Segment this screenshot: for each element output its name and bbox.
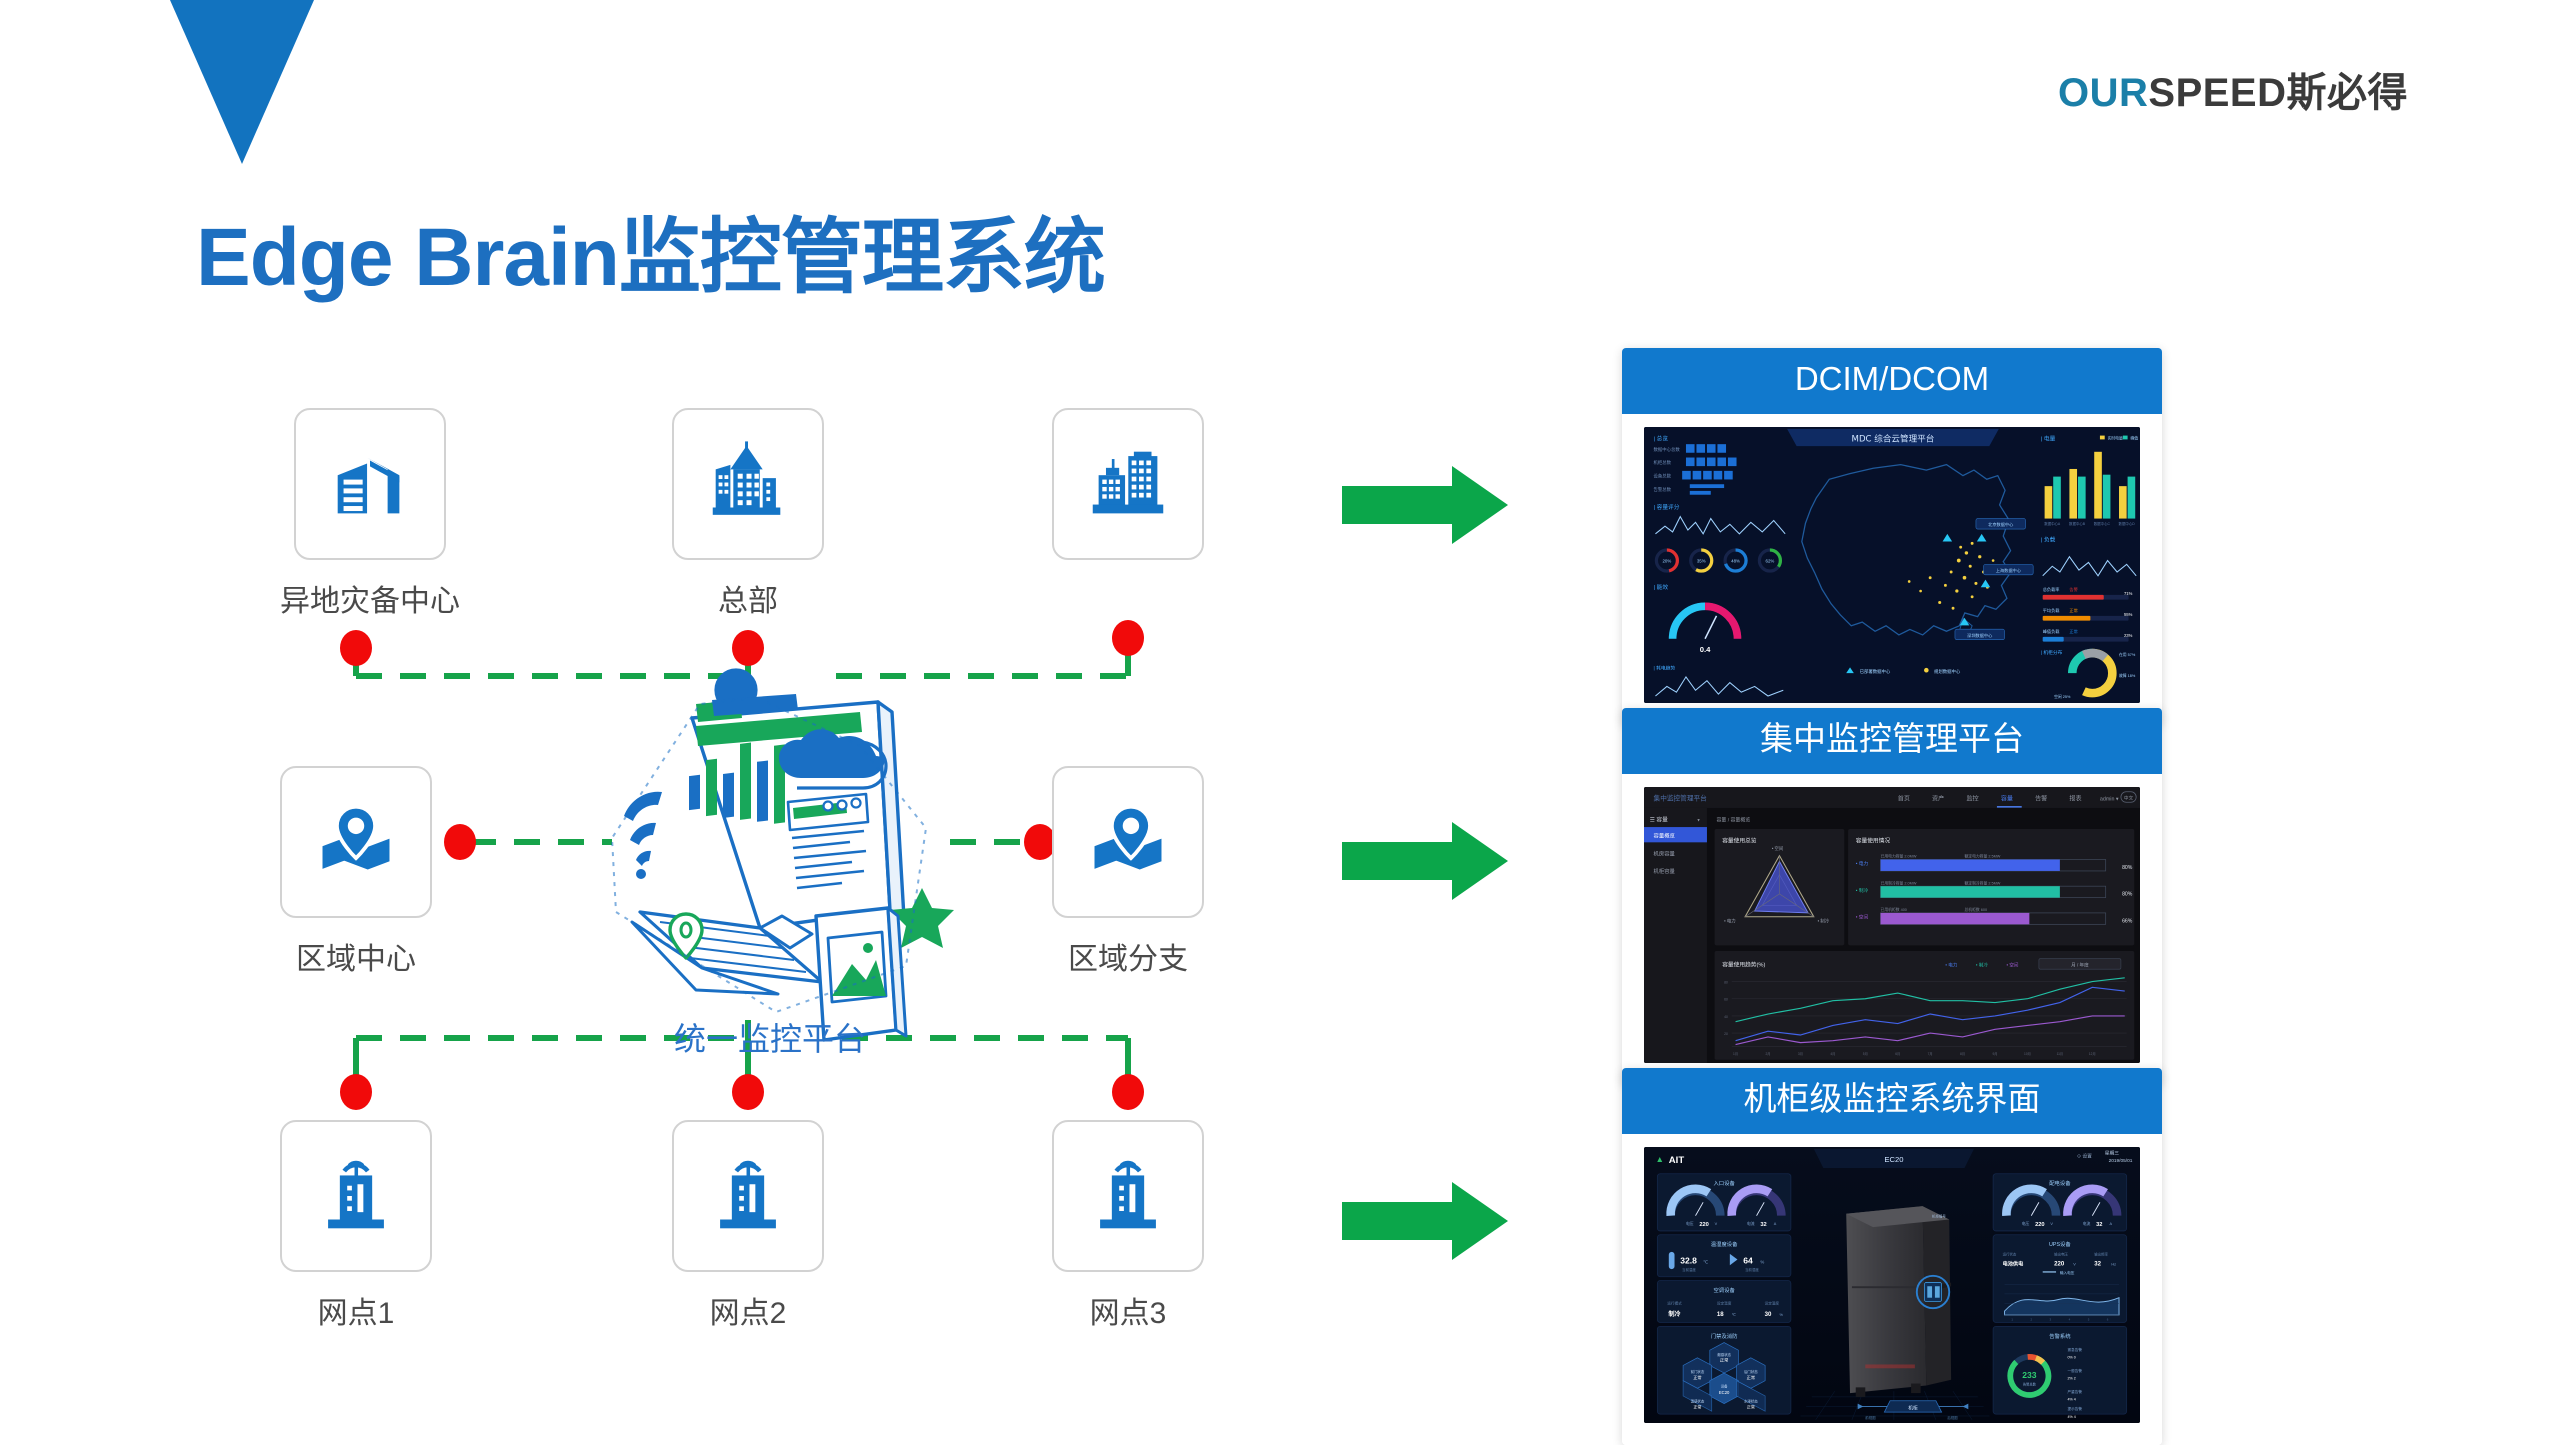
svg-text:容量使用总览: 容量使用总览 <box>1722 836 1757 844</box>
svg-text:后门状态: 后门状态 <box>1744 1369 1758 1374</box>
svg-text:数据中心D: 数据中心D <box>2119 521 2136 526</box>
svg-text:2% 2: 2% 2 <box>2068 1376 2076 1380</box>
svg-text:7月: 7月 <box>1928 1052 1933 1056</box>
node-label: 区域中心 <box>280 934 432 978</box>
svg-text:| 电量: | 电量 <box>2041 434 2056 442</box>
svg-text:35%: 35% <box>1697 558 1706 563</box>
map-pin-area-icon <box>309 795 403 889</box>
node-label: 网点2 <box>672 1288 824 1332</box>
node-tile[interactable] <box>280 1120 432 1272</box>
svg-text:• 电力: • 电力 <box>1945 961 1957 968</box>
svg-text:监控: 监控 <box>1966 794 1978 802</box>
panel-screenshot-frame: 集中监控管理平台 首页资产监控 容量告警报表 admin ▾ 中文 ☰ 容量 ▾… <box>1622 774 2162 1086</box>
svg-text:6月: 6月 <box>1895 1052 1900 1056</box>
svg-text:数据中心C: 数据中心C <box>2094 521 2111 526</box>
svg-text:额定电力容量 2.5MW: 额定电力容量 2.5MW <box>1964 853 2000 858</box>
svg-text:深圳数据中心: 深圳数据中心 <box>1967 631 1993 638</box>
svg-text:☰ 容量: ☰ 容量 <box>1650 815 1668 823</box>
svg-text:| 总览: | 总览 <box>1654 434 1669 442</box>
svg-text:• 制冷: • 制冷 <box>1818 917 1830 924</box>
svg-text:20%: 20% <box>1663 558 1672 563</box>
svg-text:| 能效: | 能效 <box>1654 583 1669 591</box>
svg-text:空调设备: 空调设备 <box>1713 1286 1735 1294</box>
svg-text:设备总数: 设备总数 <box>1654 472 1672 479</box>
svg-text:告警系统: 告警系统 <box>2049 1331 2071 1339</box>
svg-text:峰值: 峰值 <box>2130 435 2138 440</box>
svg-text:实时电量: 实时电量 <box>2108 435 2123 440</box>
svg-text:正常: 正常 <box>1747 1403 1755 1409</box>
svg-text:电流: 电流 <box>1747 1221 1755 1226</box>
svg-text:告警: 告警 <box>2035 794 2047 802</box>
svg-text:一般告警: 一般告警 <box>2068 1368 2083 1373</box>
svg-text:%: % <box>1760 1259 1764 1264</box>
panel-title: 机柜级监控系统界面 <box>1622 1068 2162 1134</box>
svg-text:32: 32 <box>2096 1222 2102 1228</box>
svg-text:3月: 3月 <box>1798 1052 1803 1056</box>
node-label: 网点3 <box>1052 1288 1204 1332</box>
node-branch-1[interactable]: 网点1 <box>280 1120 432 1332</box>
svg-text:正常: 正常 <box>1720 1356 1728 1363</box>
antenna-tower-icon <box>701 1149 795 1243</box>
svg-text:当前湿度: 当前湿度 <box>1745 1267 1759 1272</box>
svg-text:容量: 容量 <box>2001 794 2013 802</box>
svg-text:已用制冷容量 2.0MW: 已用制冷容量 2.0MW <box>1881 880 1917 885</box>
svg-text:首页: 首页 <box>1898 794 1910 802</box>
centralized-dashboard-screenshot[interactable]: 集中监控管理平台 首页资产监控 容量告警报表 admin ▾ 中文 ☰ 容量 ▾… <box>1644 787 2140 1064</box>
node-tile[interactable] <box>1052 766 1204 918</box>
svg-text:10月: 10月 <box>2024 1052 2031 1056</box>
node-tile[interactable] <box>672 408 824 560</box>
svg-text:星期三: 星期三 <box>2105 1150 2120 1156</box>
svg-text:▲: ▲ <box>1655 1154 1664 1164</box>
svg-text:20: 20 <box>1724 1032 1728 1036</box>
svg-text:紧急告警: 紧急告警 <box>2068 1347 2083 1352</box>
svg-text:EC20: EC20 <box>1884 1155 1903 1164</box>
svg-text:制冷: 制冷 <box>1668 1309 1681 1317</box>
svg-text:66%: 66% <box>2122 918 2133 924</box>
svg-text:数据中心B: 数据中心B <box>2069 521 2086 526</box>
svg-text:机房容量: 机房容量 <box>1654 849 1676 857</box>
svg-text:正常: 正常 <box>2069 607 2077 614</box>
svg-text:运行模式: 运行模式 <box>1667 1300 1682 1305</box>
svg-text:告警总数: 告警总数 <box>2023 1381 2037 1386</box>
svg-text:60: 60 <box>1724 997 1728 1001</box>
svg-text:平均负载: 平均负载 <box>2043 607 2061 614</box>
svg-text:2019/05/01: 2019/05/01 <box>2109 1158 2133 1164</box>
svg-text:告警总数: 告警总数 <box>1654 485 1672 492</box>
svg-text:机柜编号: 机柜编号 <box>1932 1213 1946 1218</box>
node-dr-center[interactable]: 异地灾备中心 <box>280 408 460 620</box>
svg-text:正常: 正常 <box>2069 628 2077 635</box>
svg-text:12月: 12月 <box>2089 1052 2096 1056</box>
svg-text:电压: 电压 <box>2022 1221 2030 1226</box>
svg-text:32.8: 32.8 <box>1680 1255 1697 1265</box>
node-branch-2[interactable]: 网点2 <box>672 1120 824 1332</box>
svg-text:额定制冷容量 2.5MW: 额定制冷容量 2.5MW <box>1964 880 2000 885</box>
svg-text:烟感状态: 烟感状态 <box>1717 1351 1731 1356</box>
svg-text:当前温度: 当前温度 <box>1682 1267 1696 1272</box>
svg-text:告警: 告警 <box>2069 586 2078 593</box>
svg-text:提示告警: 提示告警 <box>2068 1406 2083 1411</box>
svg-text:48%: 48% <box>1731 558 1740 563</box>
svg-text:入口设备: 入口设备 <box>1713 1179 1735 1187</box>
cabinet-dashboard-screenshot[interactable]: ▲ AIT EC20 ⊙ 设置 星期三 2019/05/01 入口设备 电压 <box>1644 1147 2140 1424</box>
svg-text:40: 40 <box>1724 1014 1728 1018</box>
node-branch-3[interactable]: 网点3 <box>1052 1120 1204 1332</box>
svg-text:总负载率: 总负载率 <box>2043 586 2060 593</box>
svg-text:月 / 年度: 月 / 年度 <box>2071 961 2089 968</box>
antenna-tower-icon <box>309 1149 403 1243</box>
node-label: 异地灾备中心 <box>280 576 460 620</box>
svg-text:• 空间: • 空间 <box>2006 961 2018 968</box>
brand-suffix: SPEED斯必得 <box>2148 71 2408 115</box>
map-pin-area-icon <box>1081 795 1175 889</box>
svg-text:EC20: EC20 <box>1719 1390 1730 1395</box>
svg-text:前门状态: 前门状态 <box>1691 1369 1705 1374</box>
svg-text:• 空间: • 空间 <box>1772 844 1784 851</box>
panel-dcim[interactable]: DCIM/DCOM MDC 综合云管理平台 | 总览 <box>1622 348 2162 725</box>
node-tile[interactable] <box>294 408 446 560</box>
brand-logo: OURSPEED斯必得 <box>2058 60 2408 118</box>
arrow-to-central <box>1342 818 1510 904</box>
svg-text:电压: 电压 <box>1686 1221 1694 1226</box>
svg-text:总机柜数 600: 总机柜数 600 <box>1964 907 1987 912</box>
svg-text:后视图: 后视图 <box>1947 1414 1958 1419</box>
svg-text:0% 0: 0% 0 <box>2068 1355 2076 1359</box>
panel-title: 集中监控管理平台 <box>1622 708 2162 774</box>
svg-text:UPS设备: UPS设备 <box>2049 1240 2071 1248</box>
svg-text:输入电压: 输入电压 <box>2060 1269 2075 1274</box>
svg-text:容量使用情况: 容量使用情况 <box>1856 836 1891 844</box>
svg-text:数据中心A: 数据中心A <box>2044 521 2061 526</box>
svg-text:80%: 80% <box>2122 865 2133 871</box>
svg-text:80%: 80% <box>2122 891 2133 897</box>
svg-text:故障 18%: 故障 18% <box>2119 672 2136 677</box>
city-towers-icon <box>701 437 795 531</box>
svg-text:Hz: Hz <box>2111 1262 2116 1266</box>
svg-text:62%: 62% <box>1766 558 1775 563</box>
svg-text:前视图: 前视图 <box>1865 1414 1876 1419</box>
svg-text:温湿度设备: 温湿度设备 <box>1711 1240 1738 1248</box>
svg-text:4月: 4月 <box>1830 1052 1835 1056</box>
svg-text:空闲 25%: 空闲 25% <box>2054 693 2071 698</box>
svg-text:32: 32 <box>2094 1260 2101 1267</box>
node-tile[interactable] <box>1052 1120 1204 1272</box>
high-rise-icon <box>1081 437 1175 531</box>
page-title: Edge Brain监控管理系统 <box>196 190 1105 309</box>
svg-text:8月: 8月 <box>1960 1052 1965 1056</box>
panel-cabinet[interactable]: 机柜级监控系统界面 ▲ AIT EC20 ⊙ 设置 <box>1622 1068 2162 1445</box>
svg-text:64: 64 <box>1743 1255 1753 1265</box>
svg-text:11月: 11月 <box>2057 1052 2064 1056</box>
svg-text:80: 80 <box>1724 980 1728 984</box>
svg-text:admin ▾: admin ▾ <box>2100 796 2119 802</box>
svg-text:报表: 报表 <box>2069 794 2081 802</box>
node-tile[interactable] <box>280 766 432 918</box>
node-headquarters[interactable]: 总部 <box>672 408 824 620</box>
svg-text:温感状态: 温感状态 <box>1691 1398 1705 1403</box>
svg-text:电池供电: 电池供电 <box>2003 1259 2024 1267</box>
svg-text:2月: 2月 <box>1765 1052 1770 1056</box>
wifi-icon <box>624 792 662 879</box>
svg-text:30: 30 <box>1765 1310 1772 1317</box>
svg-text:1月: 1月 <box>1733 1052 1738 1056</box>
svg-text:18: 18 <box>1717 1310 1724 1317</box>
node-label: 网点1 <box>280 1288 432 1332</box>
svg-text:运行状态: 运行状态 <box>2003 1251 2017 1256</box>
svg-text:AIT: AIT <box>1669 1155 1685 1166</box>
decorative-triangle <box>170 0 314 164</box>
svg-text:32: 32 <box>1760 1222 1766 1228</box>
svg-text:220: 220 <box>2035 1222 2045 1228</box>
svg-text:输出电压: 输出电压 <box>2054 1251 2068 1256</box>
svg-text:输出频率: 输出频率 <box>2094 1251 2108 1256</box>
svg-text:220: 220 <box>2054 1260 2065 1267</box>
svg-text:℃: ℃ <box>1703 1259 1708 1264</box>
svg-text:已用电力容量 2.0MW: 已用电力容量 2.0MW <box>1881 853 1917 858</box>
node-regional-center[interactable]: 区域中心 <box>280 766 432 978</box>
svg-text:4% 4: 4% 4 <box>2068 1414 2076 1418</box>
svg-text:0.4: 0.4 <box>1700 645 1711 654</box>
svg-text:上海数据中心: 上海数据中心 <box>1996 567 2022 574</box>
svg-text:正常: 正常 <box>1693 1403 1701 1409</box>
svg-text:容量概览: 容量概览 <box>1654 831 1675 839</box>
svg-text:规划数据中心: 规划数据中心 <box>1934 668 1961 675</box>
svg-text:• 制冷: • 制冷 <box>1976 961 1988 968</box>
svg-text:MDC 综合云管理平台: MDC 综合云管理平台 <box>1852 432 1935 444</box>
svg-text:门禁及消防: 门禁及消防 <box>1711 1331 1738 1339</box>
panel-screenshot-frame: MDC 综合云管理平台 | 总览 数据中心总数机柜总数 设备总数告警总数 <box>1622 414 2162 726</box>
svg-text:电流: 电流 <box>2083 1221 2091 1226</box>
node-label: 总部 <box>672 576 824 620</box>
svg-text:北京数据中心: 北京数据中心 <box>1988 521 2014 528</box>
svg-text:机柜总数: 机柜总数 <box>1654 459 1672 466</box>
node-office-top-right[interactable] <box>1052 408 1204 576</box>
panel-title: DCIM/DCOM <box>1622 348 2162 414</box>
panel-screenshot-frame: ▲ AIT EC20 ⊙ 设置 星期三 2019/05/01 入口设备 电压 <box>1622 1134 2162 1445</box>
svg-text:233: 233 <box>2022 1369 2037 1379</box>
svg-text:在用 57%: 在用 57% <box>2119 651 2136 656</box>
antenna-tower-icon <box>1081 1149 1175 1243</box>
svg-text:设备: 设备 <box>1721 1383 1728 1388</box>
slide-canvas: OURSPEED斯必得 Edge Brain监控管理系统 <box>0 0 2560 1440</box>
svg-text:4% 4: 4% 4 <box>2068 1397 2076 1401</box>
svg-text:配电设备: 配电设备 <box>2049 1179 2071 1187</box>
svg-text:℃: ℃ <box>1732 1312 1736 1316</box>
svg-text:设定湿度: 设定湿度 <box>1765 1300 1780 1305</box>
svg-text:严重告警: 严重告警 <box>2068 1389 2083 1394</box>
svg-text:220: 220 <box>1699 1222 1709 1228</box>
svg-text:已部署数据中心: 已部署数据中心 <box>1860 668 1891 675</box>
node-regional-branch[interactable]: 区域分支 <box>1052 766 1204 978</box>
svg-text:资产: 资产 <box>1932 794 1944 802</box>
office-building-icon <box>323 437 417 531</box>
svg-text:数据中心总数: 数据中心总数 <box>1654 445 1681 452</box>
svg-text:峰值负载: 峰值负载 <box>2043 628 2061 635</box>
node-tile[interactable] <box>672 1120 824 1272</box>
dcim-dashboard-screenshot[interactable]: MDC 综合云管理平台 | 总览 数据中心总数机柜总数 设备总数告警总数 <box>1644 427 2140 704</box>
svg-text:水浸状态: 水浸状态 <box>1744 1398 1758 1403</box>
svg-text:容量使用趋势(%): 容量使用趋势(%) <box>1722 960 1765 968</box>
node-tile[interactable] <box>1052 408 1204 560</box>
svg-text:正常: 正常 <box>1693 1373 1701 1380</box>
panel-centralized[interactable]: 集中监控管理平台 集中监控管理平台 首页资产监控 容量告警报表 admin ▾ … <box>1622 708 2162 1085</box>
arrow-to-cabinet <box>1342 1178 1510 1264</box>
svg-text:9月: 9月 <box>1992 1052 1997 1056</box>
svg-text:| 负载: | 负载 <box>2041 535 2056 543</box>
arrow-to-dcim <box>1342 462 1510 548</box>
svg-text:• 电力: • 电力 <box>1724 917 1736 924</box>
node-label: 区域分支 <box>1052 934 1204 978</box>
svg-text:| 容量评分: | 容量评分 <box>1654 503 1680 511</box>
svg-text:设定温度: 设定温度 <box>1717 1300 1732 1305</box>
brand-prefix: OUR <box>2058 71 2148 115</box>
svg-text:机柜容量: 机柜容量 <box>1654 866 1676 874</box>
unified-platform-label: 统一监控平台 <box>560 1014 980 1060</box>
svg-text:5月: 5月 <box>1863 1052 1868 1056</box>
svg-text:正常: 正常 <box>1747 1373 1755 1380</box>
svg-text:集中监控管理平台: 集中监控管理平台 <box>1654 793 1708 802</box>
svg-text:已用机柜数 400: 已用机柜数 400 <box>1881 907 1907 912</box>
